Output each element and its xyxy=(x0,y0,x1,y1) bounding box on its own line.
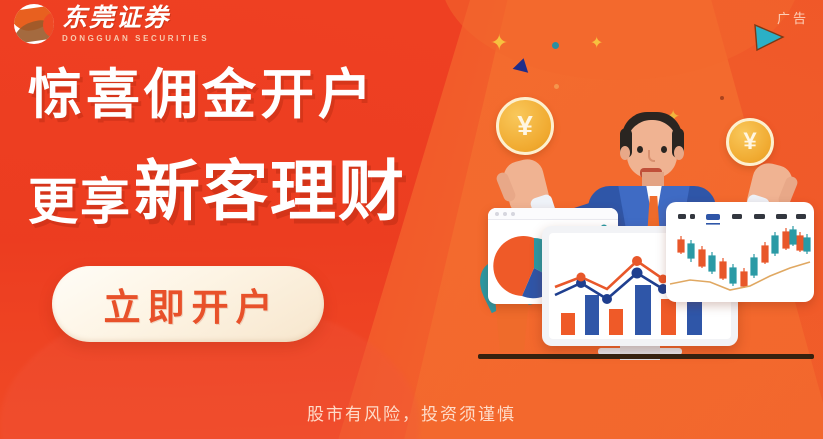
left-eye xyxy=(637,146,643,153)
dongguan-securities-wave-logo-icon xyxy=(14,4,54,44)
desk-surface xyxy=(478,354,814,359)
advertisement-banner[interactable]: 东莞证券 DONGGUAN SECURITIES 广告 惊喜佣金开户 更享 新客… xyxy=(0,0,823,439)
headline-line-2-emphasis: 新客理财 xyxy=(134,138,406,234)
headline-line-1: 惊喜佣金开户 xyxy=(28,68,376,122)
headline-line-2-prefix: 更享 xyxy=(28,162,132,234)
brand-logo[interactable]: 东莞证券 DONGGUAN SECURITIES xyxy=(14,4,209,44)
brand-name-en: DONGGUAN SECURITIES xyxy=(62,35,209,43)
candlestick-chart xyxy=(666,202,814,302)
open-account-button-label: 立即开户 xyxy=(97,277,280,331)
candlestick-chart-panel xyxy=(666,202,814,302)
brand-name-cn: 东莞证券 xyxy=(62,6,209,31)
illustration: ✦ ✦ ✦ ¥ ¥ xyxy=(470,0,823,439)
brand-logo-text: 东莞证券 DONGGUAN SECURITIES xyxy=(62,6,209,43)
headline-block: 惊喜佣金开户 更享 新客理财 xyxy=(28,68,478,234)
nose xyxy=(648,150,655,162)
right-eye xyxy=(661,146,667,153)
open-account-button[interactable]: 立即开户 xyxy=(52,266,324,342)
headline-line-2-row: 更享 新客理财 xyxy=(28,138,478,234)
headline-line-1-row: 惊喜佣金开户 xyxy=(28,68,478,122)
